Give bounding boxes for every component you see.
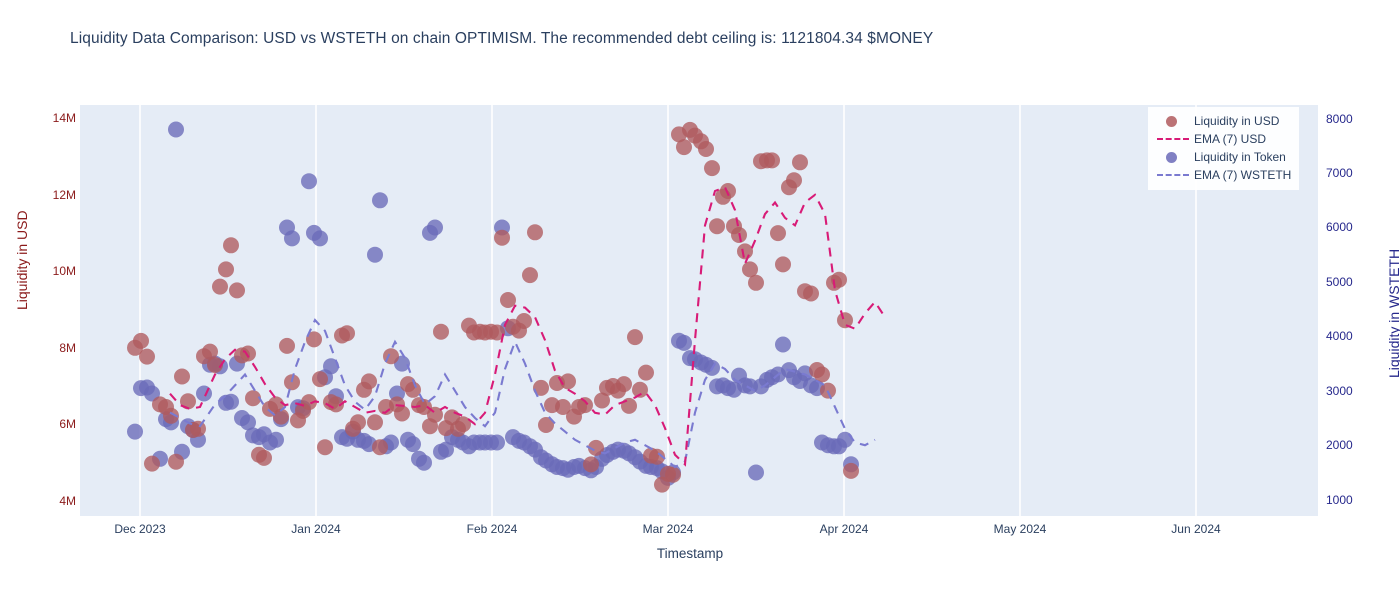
data-point[interactable] bbox=[372, 192, 388, 208]
data-point[interactable] bbox=[527, 224, 543, 240]
data-point[interactable] bbox=[168, 122, 184, 138]
legend[interactable]: Liquidity in USDEMA (7) USDLiquidity in … bbox=[1148, 107, 1299, 190]
data-point[interactable] bbox=[627, 329, 643, 345]
data-point[interactable] bbox=[168, 454, 184, 470]
legend-item[interactable]: EMA (7) WSTETH bbox=[1156, 166, 1291, 184]
data-point[interactable] bbox=[775, 337, 791, 353]
legend-item-label: EMA (7) USD bbox=[1190, 132, 1266, 146]
y-axis-right-tick: 8000 bbox=[1326, 112, 1353, 126]
data-point[interactable] bbox=[212, 279, 228, 295]
data-point[interactable] bbox=[301, 173, 317, 189]
data-point[interactable] bbox=[770, 225, 786, 241]
data-point[interactable] bbox=[792, 154, 808, 170]
data-point[interactable] bbox=[279, 338, 295, 354]
y-axis-right-tick: 3000 bbox=[1326, 384, 1353, 398]
data-point[interactable] bbox=[698, 141, 714, 157]
x-axis-tick: May 2024 bbox=[994, 522, 1047, 536]
data-point[interactable] bbox=[174, 369, 190, 385]
legend-symbol-line bbox=[1156, 167, 1190, 183]
data-point[interactable] bbox=[139, 349, 155, 365]
y-axis-right-tick: 2000 bbox=[1326, 438, 1353, 452]
x-axis-tick: Feb 2024 bbox=[467, 522, 518, 536]
series-points-liquidity-in-token[interactable] bbox=[127, 122, 859, 486]
data-point[interactable] bbox=[218, 261, 234, 277]
data-point[interactable] bbox=[144, 456, 160, 472]
data-point[interactable] bbox=[190, 421, 206, 437]
legend-item[interactable]: Liquidity in Token bbox=[1156, 148, 1291, 166]
y-axis-left-tick: 14M bbox=[53, 111, 76, 125]
data-point[interactable] bbox=[748, 465, 764, 481]
data-point[interactable] bbox=[837, 432, 853, 448]
data-point[interactable] bbox=[367, 414, 383, 430]
data-point[interactable] bbox=[223, 237, 239, 253]
data-point[interactable] bbox=[494, 230, 510, 246]
data-point[interactable] bbox=[665, 467, 681, 483]
legend-item[interactable]: Liquidity in USD bbox=[1156, 112, 1291, 130]
y-axis-right-tick: 4000 bbox=[1326, 329, 1353, 343]
legend-marker-icon bbox=[1166, 152, 1177, 163]
data-point[interactable] bbox=[638, 365, 654, 381]
plot-area[interactable] bbox=[80, 105, 1318, 516]
data-point[interactable] bbox=[317, 439, 333, 455]
y-axis-right-tick: 5000 bbox=[1326, 275, 1353, 289]
data-point[interactable] bbox=[748, 275, 764, 291]
x-axis-tick: Dec 2023 bbox=[114, 522, 165, 536]
data-point[interactable] bbox=[786, 172, 802, 188]
legend-marker-icon bbox=[1166, 116, 1177, 127]
x-axis-label-text: Timestamp bbox=[657, 546, 723, 561]
y-axis-right-tick: 7000 bbox=[1326, 166, 1353, 180]
legend-dashed-line-icon bbox=[1157, 174, 1189, 176]
legend-item-label: Liquidity in Token bbox=[1190, 150, 1286, 164]
chart-screenshot: Liquidity Data Comparison: USD vs WSTETH… bbox=[0, 0, 1400, 600]
data-point[interactable] bbox=[737, 243, 753, 259]
data-point[interactable] bbox=[361, 373, 377, 389]
data-point[interactable] bbox=[843, 463, 859, 479]
data-point[interactable] bbox=[704, 160, 720, 176]
y-axis-left-tick: 4M bbox=[59, 494, 76, 508]
data-point[interactable] bbox=[616, 376, 632, 392]
legend-symbol-line bbox=[1156, 131, 1190, 147]
data-point[interactable] bbox=[268, 432, 284, 448]
y-axis-left-tick: 8M bbox=[59, 341, 76, 355]
legend-symbol-marker bbox=[1156, 113, 1190, 129]
data-point[interactable] bbox=[229, 282, 245, 298]
data-point[interactable] bbox=[367, 247, 383, 263]
data-point[interactable] bbox=[720, 183, 736, 199]
legend-item-label: Liquidity in USD bbox=[1190, 114, 1279, 128]
data-point[interactable] bbox=[764, 152, 780, 168]
data-point[interactable] bbox=[583, 456, 599, 472]
data-point[interactable] bbox=[621, 398, 637, 414]
data-point[interactable] bbox=[427, 220, 443, 236]
x-axis-tick: Mar 2024 bbox=[643, 522, 694, 536]
x-axis-tick: Apr 2024 bbox=[820, 522, 869, 536]
data-point[interactable] bbox=[709, 218, 725, 234]
data-point[interactable] bbox=[372, 439, 388, 455]
data-point[interactable] bbox=[837, 312, 853, 328]
y-axis-left-tick: 6M bbox=[59, 417, 76, 431]
data-point[interactable] bbox=[676, 335, 692, 351]
data-point[interactable] bbox=[500, 292, 516, 308]
data-point[interactable] bbox=[433, 324, 449, 340]
data-point[interactable] bbox=[577, 397, 593, 413]
chart-canvas bbox=[80, 105, 1318, 516]
data-point[interactable] bbox=[350, 414, 366, 430]
x-axis-tick: Jun 2024 bbox=[1171, 522, 1220, 536]
data-point[interactable] bbox=[240, 346, 256, 362]
data-point[interactable] bbox=[803, 286, 819, 302]
data-point[interactable] bbox=[394, 406, 410, 422]
legend-item[interactable]: EMA (7) USD bbox=[1156, 130, 1291, 148]
y-axis-left-label: Liquidity in USD bbox=[14, 210, 30, 310]
data-point[interactable] bbox=[405, 436, 421, 452]
page-title: Liquidity Data Comparison: USD vs WSTETH… bbox=[70, 30, 933, 48]
data-point[interactable] bbox=[127, 424, 143, 440]
legend-symbol-marker bbox=[1156, 149, 1190, 165]
y-axis-left-tick: 10M bbox=[53, 264, 76, 278]
data-point[interactable] bbox=[775, 256, 791, 272]
legend-dashed-line-icon bbox=[1157, 138, 1189, 140]
data-point[interactable] bbox=[196, 386, 212, 402]
legend-item-label: EMA (7) WSTETH bbox=[1190, 168, 1291, 182]
data-point[interactable] bbox=[284, 230, 300, 246]
data-point[interactable] bbox=[312, 230, 328, 246]
data-point[interactable] bbox=[416, 455, 432, 471]
x-axis-label: Timestamp bbox=[0, 546, 1400, 561]
y-axis-right-label: Liquidity in WSTETH bbox=[1386, 249, 1400, 378]
x-axis-tick: Jan 2024 bbox=[291, 522, 340, 536]
data-point[interactable] bbox=[133, 333, 149, 349]
data-point[interactable] bbox=[339, 325, 355, 341]
data-point[interactable] bbox=[405, 382, 421, 398]
data-point[interactable] bbox=[312, 371, 328, 387]
y-axis-right-tick: 6000 bbox=[1326, 220, 1353, 234]
data-point[interactable] bbox=[256, 450, 272, 466]
y-axis-left-tick: 12M bbox=[53, 188, 76, 202]
data-point[interactable] bbox=[516, 313, 532, 329]
data-point[interactable] bbox=[522, 267, 538, 283]
data-point[interactable] bbox=[489, 435, 505, 451]
y-axis-right-tick: 1000 bbox=[1326, 493, 1353, 507]
